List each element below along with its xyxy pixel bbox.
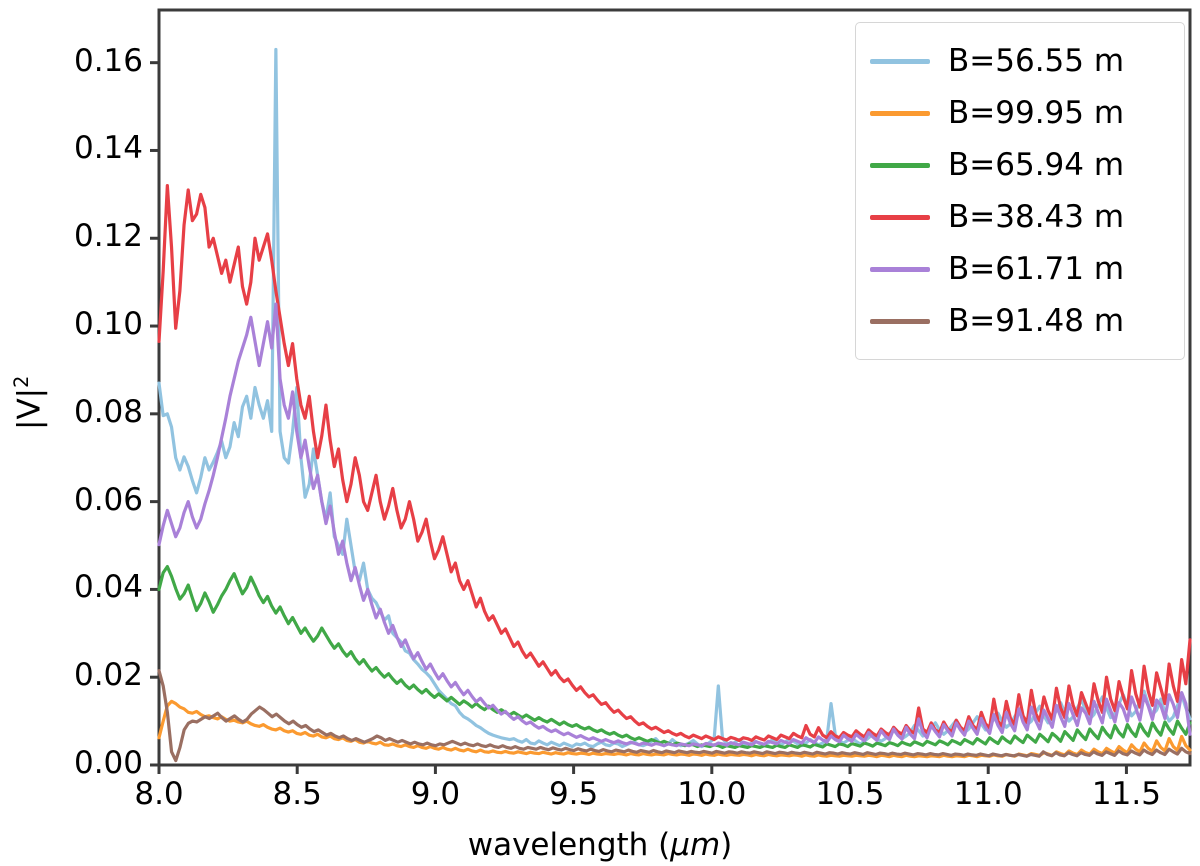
legend-swatch-icon	[870, 111, 930, 116]
legend: B=56.55 mB=99.95 mB=65.94 mB=38.43 mB=61…	[855, 22, 1185, 360]
legend-label: B=99.95 m	[948, 95, 1124, 131]
x-axis-label-unit: μm	[670, 827, 720, 863]
x-axis-label: wavelength (μm)	[0, 827, 1200, 863]
y-tick-label: 0.10	[0, 309, 143, 340]
x-tick-label: 8.0	[99, 779, 219, 810]
x-tick-label: 11.0	[928, 779, 1048, 810]
series-line-5	[159, 304, 1190, 746]
legend-swatch-icon	[870, 319, 930, 324]
x-axis-label-pre: wavelength (	[468, 827, 671, 863]
legend-label: B=91.48 m	[948, 303, 1124, 339]
x-tick-label: 11.5	[1066, 779, 1186, 810]
legend-swatch-icon	[870, 163, 930, 168]
y-tick-label: 0.06	[0, 485, 143, 516]
legend-label: B=38.43 m	[948, 199, 1124, 235]
y-tick-label: 0.14	[0, 133, 143, 164]
x-tick-label: 10.0	[652, 779, 772, 810]
y-axis-label-exponent: 2	[10, 375, 33, 387]
x-tick-label: 9.0	[375, 779, 495, 810]
legend-label: B=61.71 m	[948, 251, 1124, 287]
x-tick-label: 8.5	[237, 779, 357, 810]
x-tick-label: 10.5	[790, 779, 910, 810]
legend-item-5[interactable]: B=61.71 m	[856, 243, 1184, 295]
x-tick-label: 9.5	[514, 779, 634, 810]
legend-item-2[interactable]: B=99.95 m	[856, 87, 1184, 139]
legend-label: B=56.55 m	[948, 43, 1124, 79]
legend-label: B=65.94 m	[948, 147, 1124, 183]
legend-swatch-icon	[870, 215, 930, 220]
y-tick-label: 0.00	[0, 748, 143, 779]
legend-swatch-icon	[870, 267, 930, 272]
legend-item-4[interactable]: B=38.43 m	[856, 191, 1184, 243]
y-tick-label: 0.12	[0, 221, 143, 252]
figure: |V|2 wavelength (μm) B=56.55 mB=99.95 mB…	[0, 0, 1200, 866]
y-tick-label: 0.02	[0, 660, 143, 691]
legend-swatch-icon	[870, 59, 930, 64]
legend-item-1[interactable]: B=56.55 m	[856, 35, 1184, 87]
y-tick-label: 0.16	[0, 46, 143, 77]
legend-item-3[interactable]: B=65.94 m	[856, 139, 1184, 191]
y-tick-label: 0.08	[0, 397, 143, 428]
x-axis-label-post: )	[720, 827, 732, 863]
legend-item-6[interactable]: B=91.48 m	[856, 295, 1184, 347]
y-tick-label: 0.04	[0, 572, 143, 603]
